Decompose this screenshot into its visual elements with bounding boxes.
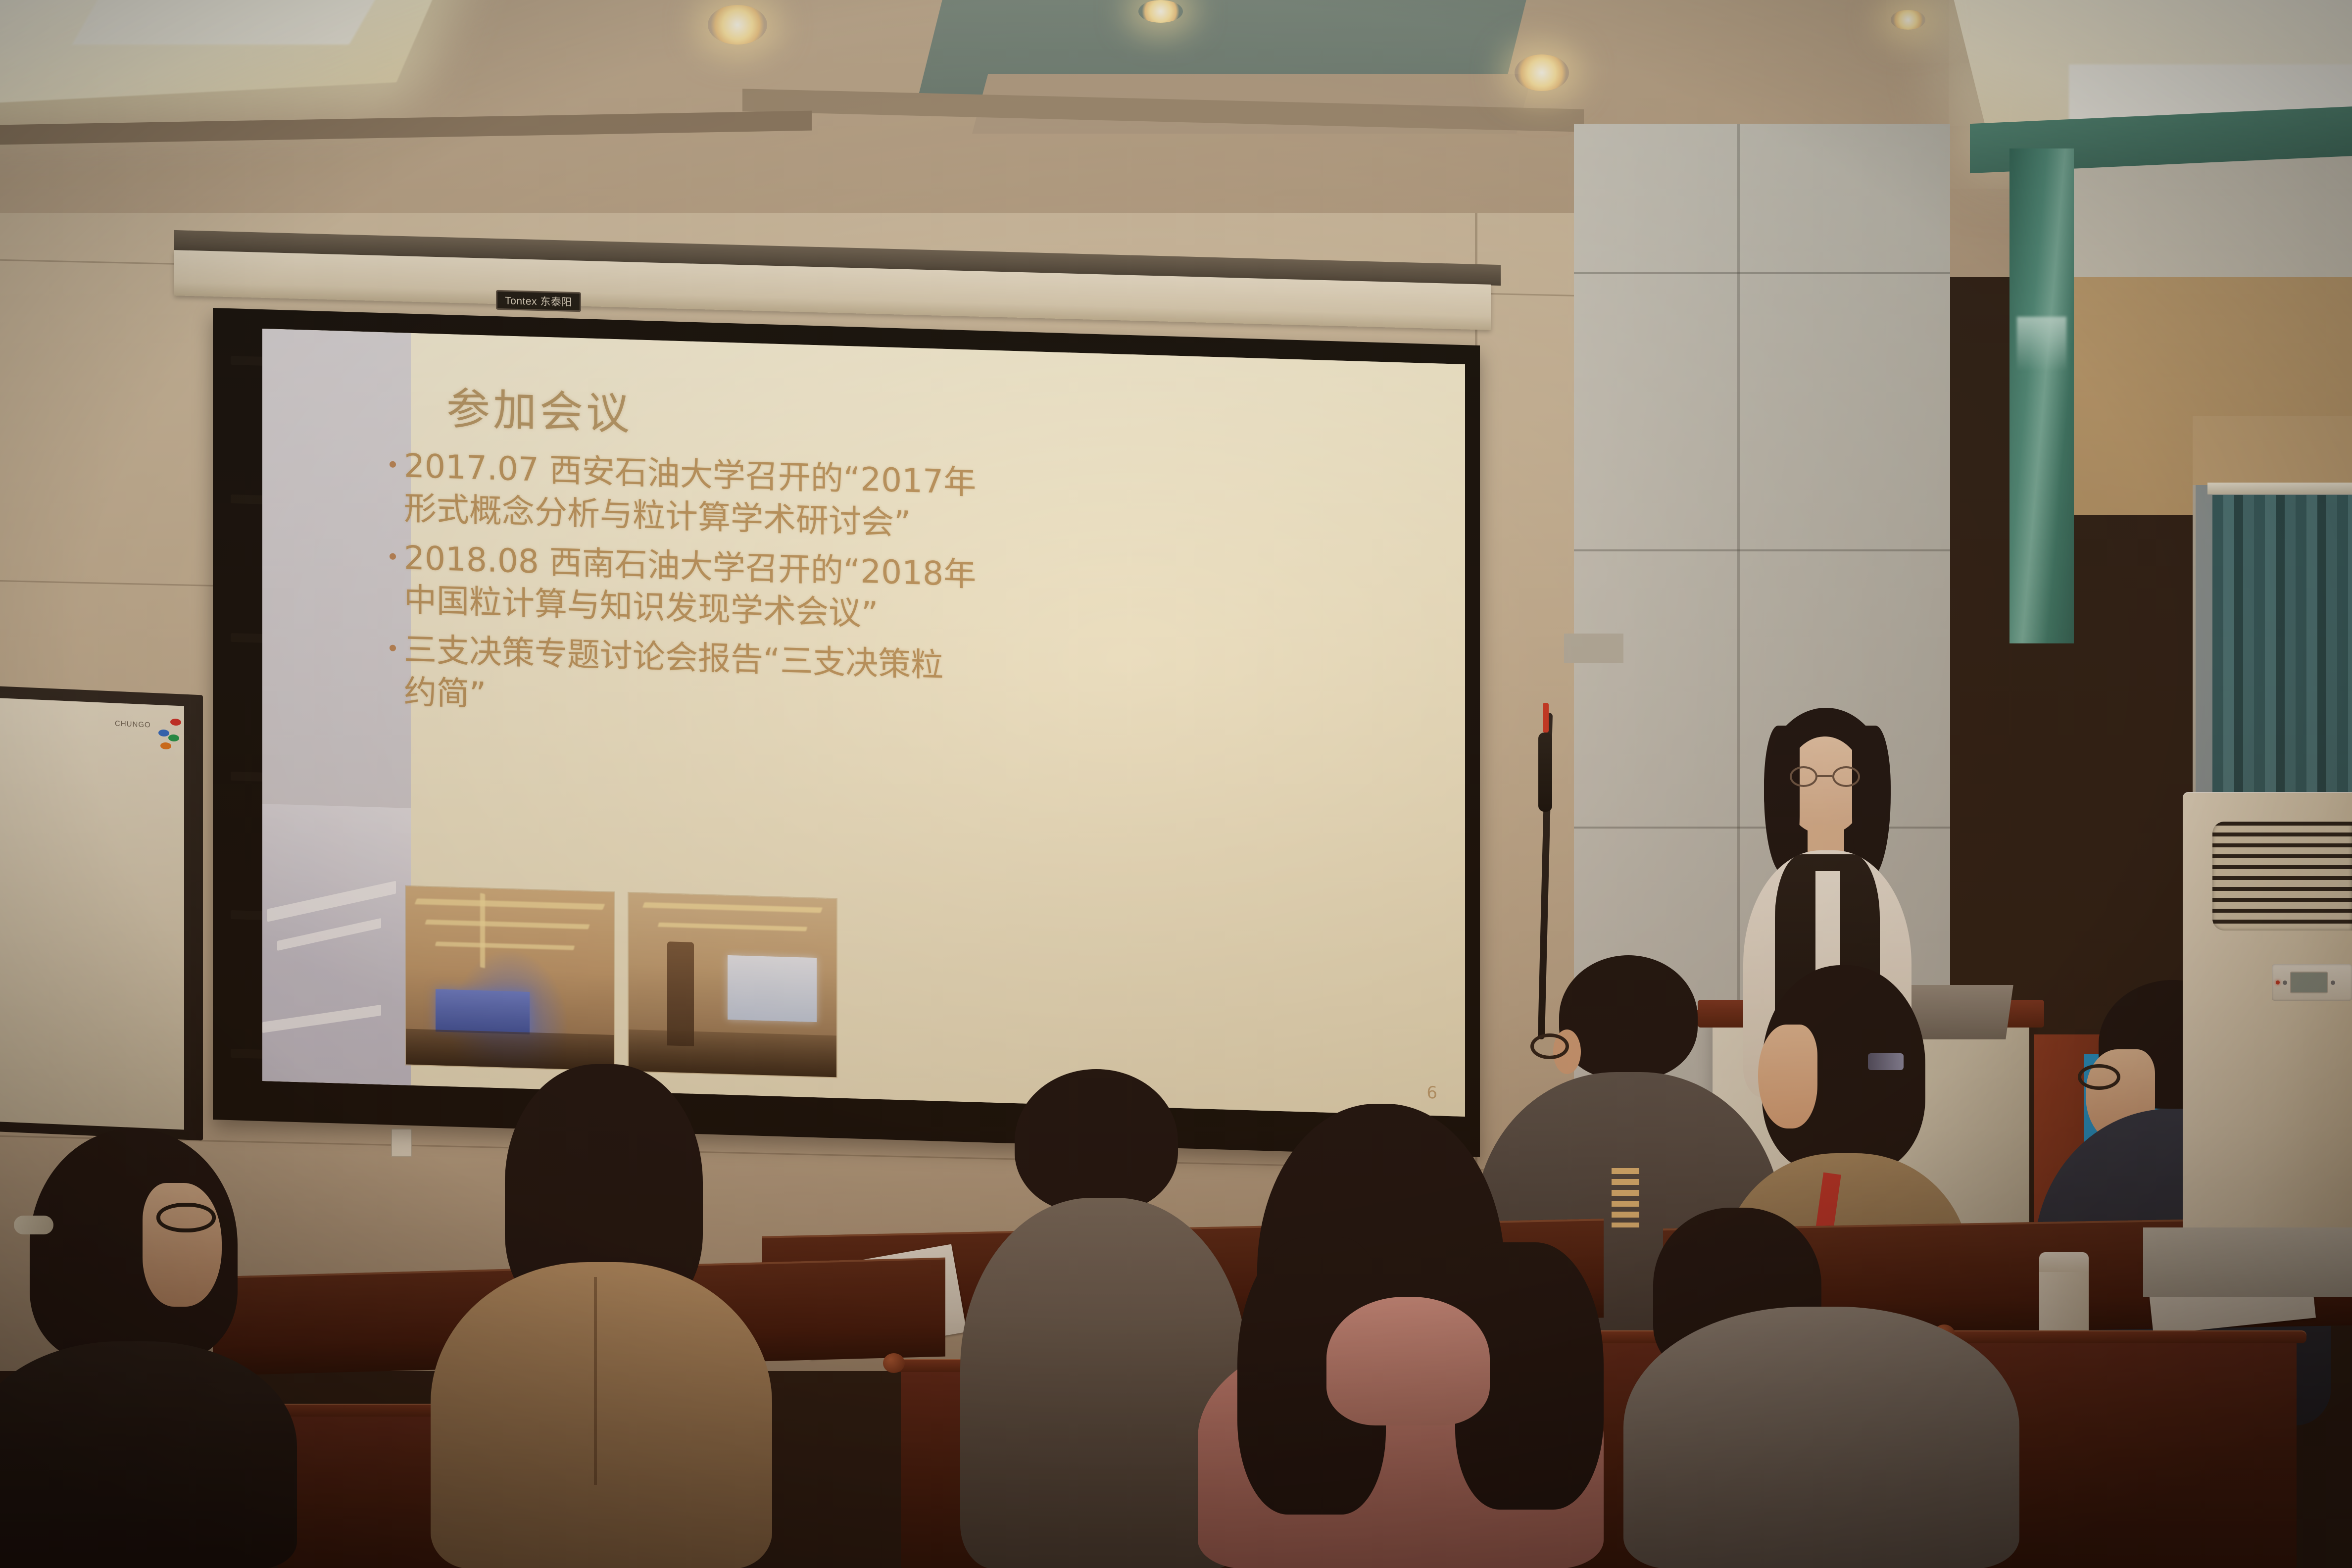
slide-page-number: 6 <box>1426 1083 1437 1103</box>
teal-column <box>2009 148 2074 643</box>
presentation-slide: 参加会议 2017.07 西安石油大学召开的“2017年 形式概念分析与粒计算学… <box>262 329 1465 1117</box>
air-conditioner-grille <box>2212 822 2352 931</box>
slide-bullet-text: 三支决策专题讨论会报告“三支决策粒 约简” <box>404 629 943 730</box>
attendee-glasses-icon <box>156 1203 216 1232</box>
magnet-orange-icon[interactable] <box>160 742 171 750</box>
screen-brand-badge: Tontex 东泰阳 <box>496 290 581 312</box>
attendee-hair <box>1559 955 1698 1079</box>
wall-power-socket[interactable] <box>391 1128 412 1157</box>
screen-tension-tab <box>231 633 266 643</box>
attendee-jacket <box>0 1341 297 1568</box>
air-conditioner-display <box>2290 972 2328 993</box>
projection-screen-surface[interactable]: 参加会议 2017.07 西安石油大学召开的“2017年 形式概念分析与粒计算学… <box>262 329 1465 1117</box>
attendee-coat <box>1623 1307 2019 1568</box>
teal-column-highlight <box>2017 317 2066 371</box>
screen-tension-tab <box>231 494 266 504</box>
magnet-green-icon[interactable] <box>168 735 179 742</box>
slide-side-photo <box>262 804 411 1085</box>
slide-photo-row <box>406 886 836 1078</box>
attendee-pink-hoodie <box>1178 1237 1623 1568</box>
bullet-dot-icon <box>386 645 399 713</box>
slide-photo-report-scene <box>629 893 836 1077</box>
pier-seam <box>1574 549 1950 551</box>
whiteboard-brand-label: CHUNGO <box>115 719 151 729</box>
screen-tension-tab <box>231 772 266 782</box>
hair-clip-icon <box>1868 1053 1904 1070</box>
slide-title: 参加会议 <box>446 374 633 442</box>
slide-bullet-list: 2017.07 西安石油大学召开的“2017年 形式概念分析与粒计算学术研讨会”… <box>386 444 1406 750</box>
screen-tension-tab <box>231 910 266 920</box>
downlight-icon <box>1891 10 1925 30</box>
window-curtain[interactable] <box>2212 495 2352 792</box>
pointer-stick-tip-icon <box>1543 703 1549 733</box>
slide-bullet-text: 2018.08 西南石油大学召开的“2018年 中国粒计算与知识发现学术会议” <box>404 537 976 638</box>
ceiling-cove-light-left-inner <box>72 0 383 45</box>
screen-tension-tab <box>231 356 266 366</box>
attendee-dark-jacket-glasses <box>0 1128 317 1568</box>
pier-seam <box>1574 272 1950 274</box>
air-conditioner-base-panel <box>2143 1227 2352 1297</box>
attendee-camel-coat <box>426 1064 772 1568</box>
hoodie-hood <box>1326 1297 1490 1425</box>
pointer-stick-grip[interactable] <box>1538 733 1552 812</box>
conference-room-scene: CHUNGO Tontex 东泰阳 参加会议 2017.07 西 <box>0 0 2352 1568</box>
ac-button-icon[interactable] <box>2283 980 2287 985</box>
magnet-red-icon[interactable] <box>170 719 181 726</box>
attendee-face-side <box>1758 1025 1817 1128</box>
downlight-icon <box>1515 54 1569 91</box>
attendee-coat <box>431 1262 772 1568</box>
chair-knob <box>883 1353 905 1373</box>
downlight-icon <box>708 5 767 45</box>
wall-speaker <box>1564 634 1623 663</box>
downlight-icon <box>1138 0 1183 23</box>
presenter-glasses-icon <box>1790 766 1860 787</box>
attendee-hair <box>1015 1069 1178 1213</box>
attendee-glasses-icon <box>1530 1033 1569 1059</box>
presenter-hair-front-left <box>1764 726 1800 874</box>
air-conditioner-control-panel[interactable] <box>2272 964 2352 1001</box>
attendee-glasses-icon <box>2078 1064 2120 1090</box>
whiteboard-surface[interactable] <box>0 697 184 1129</box>
curtain-rail <box>2207 483 2352 494</box>
screen-tension-tab <box>231 1049 266 1059</box>
magnet-blue-icon[interactable] <box>158 730 169 737</box>
hair-clip-beads-icon <box>14 1216 53 1234</box>
slide-bullet-text: 2017.07 西安石油大学召开的“2017年 形式概念分析与粒计算学术研讨会” <box>404 444 976 546</box>
ac-button-icon[interactable] <box>2331 980 2335 985</box>
bullet-dot-icon <box>386 553 399 621</box>
bullet-dot-icon <box>386 461 399 529</box>
attendee-face-side <box>143 1183 222 1307</box>
power-indicator-icon <box>2276 980 2280 984</box>
coat-seam <box>594 1277 597 1485</box>
attendee-grey-coat <box>1623 1208 2049 1568</box>
slide-photo-conference-hall <box>406 886 614 1071</box>
